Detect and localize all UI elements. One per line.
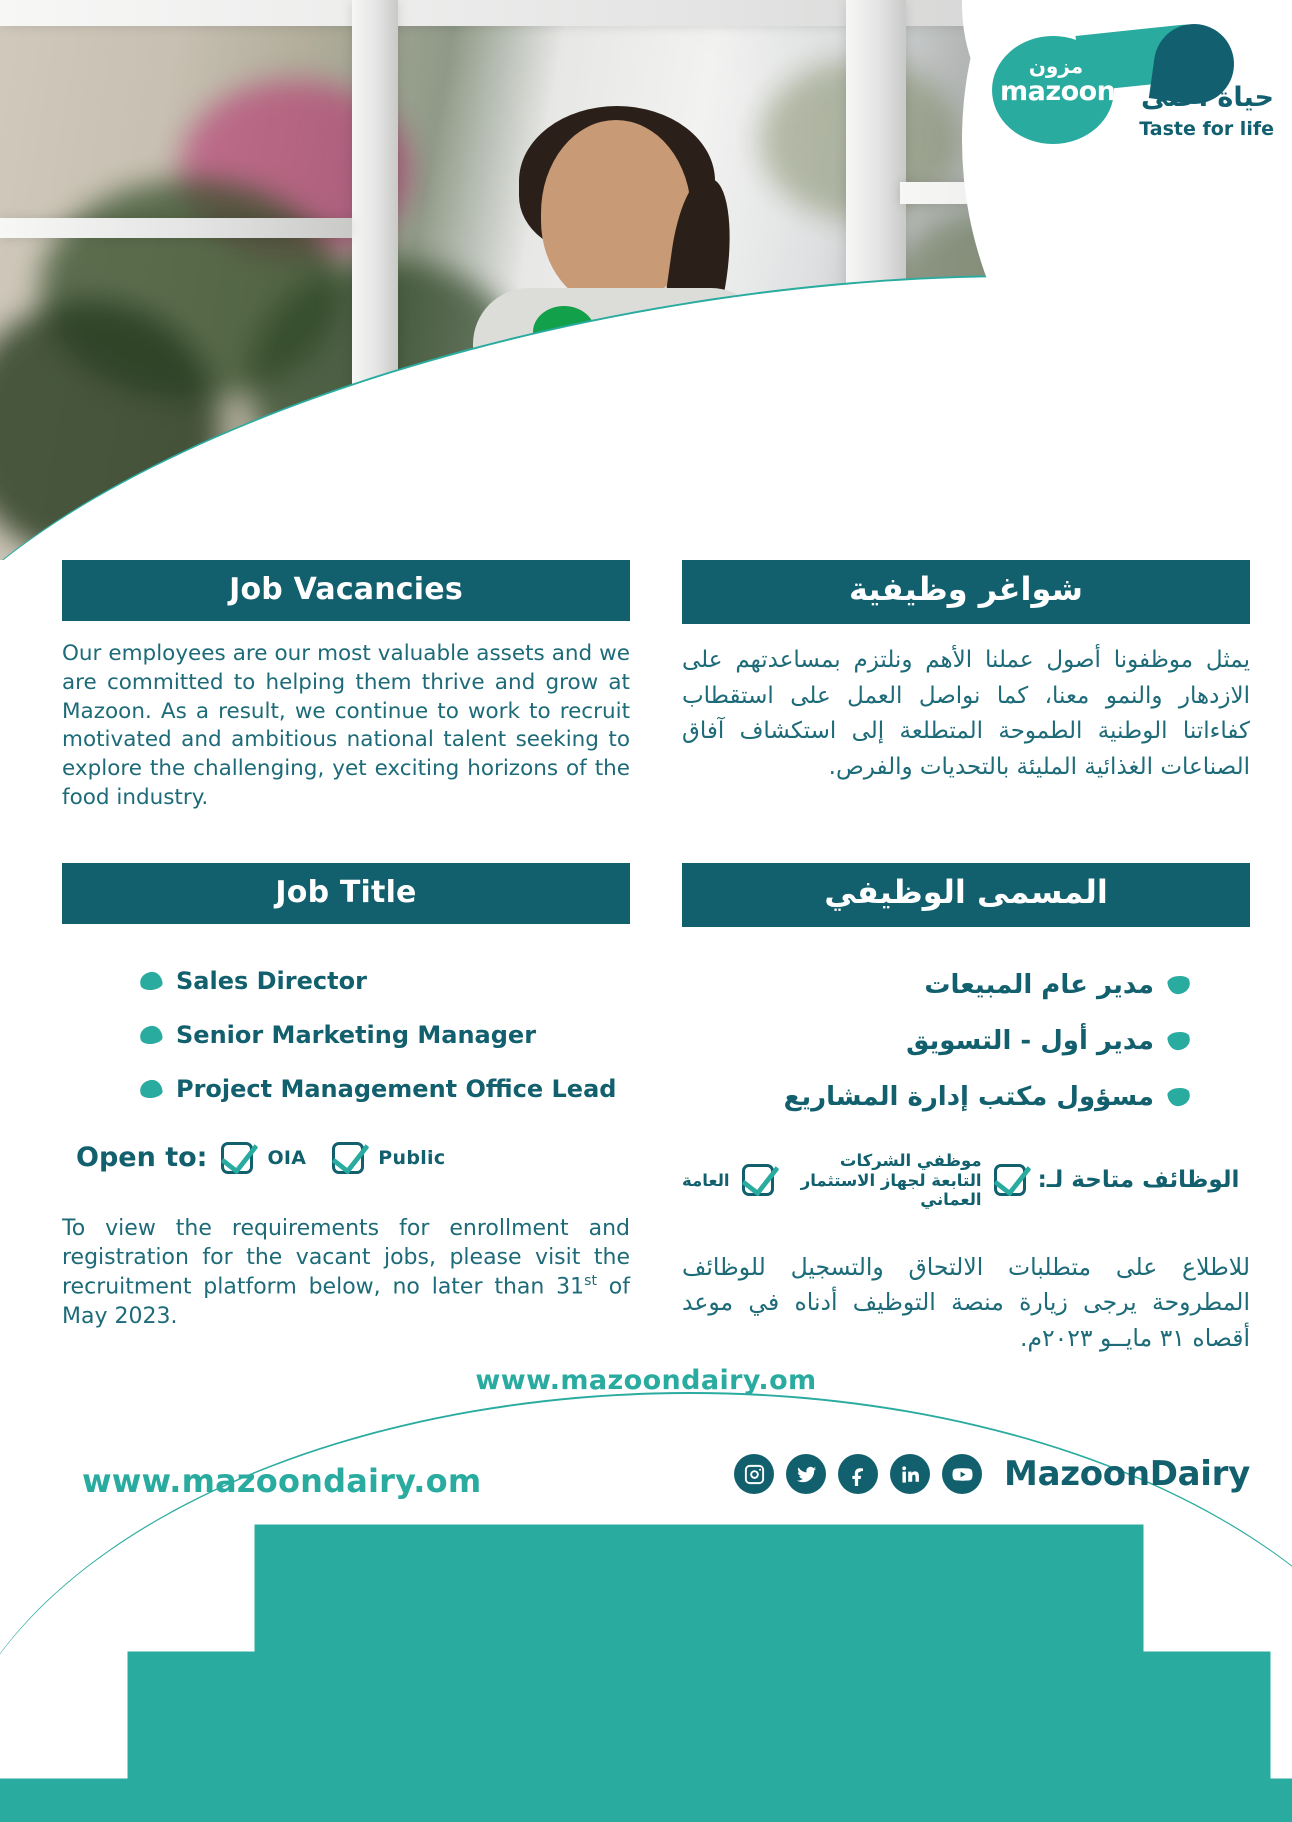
heading-job-vacancies-ar: شواغر وظيفية	[682, 560, 1250, 624]
leaf-bullet-icon	[1167, 1030, 1192, 1052]
logo-arabic-text: مزون	[1010, 54, 1102, 78]
open-to-label-en: Open to:	[76, 1142, 207, 1173]
list-item: مدير عام المبيعات	[682, 957, 1250, 1013]
logo-latin-text: mazoon	[1000, 76, 1112, 107]
heading-job-title-en: Job Title	[62, 863, 630, 924]
job-title-text: Project Management Office Lead	[176, 1075, 616, 1103]
checkbox-oia[interactable]	[221, 1142, 253, 1174]
job-title-text: مدير أول - التسويق	[906, 1026, 1154, 1056]
leaf-bullet-icon	[139, 1024, 164, 1046]
checkbox-label-public-ar: العامة	[682, 1171, 730, 1191]
heading-job-vacancies-en: Job Vacancies	[62, 560, 630, 621]
intro-paragraph-ar: يمثل موظفونا أصول عملنا الأهم ونلتزم بمس…	[682, 643, 1250, 786]
mazoon-logo: مزون mazoon حياة أحلى Taste for life	[986, 22, 1248, 150]
youtube-icon[interactable]	[942, 1454, 982, 1494]
list-item: Senior Marketing Manager	[62, 1008, 630, 1062]
job-list-en: Sales Director Senior Marketing Manager …	[62, 954, 630, 1116]
leaf-bullet-icon	[139, 1078, 164, 1100]
job-title-text: Sales Director	[176, 967, 367, 995]
footer: www.mazoondairy.om MazoonDairy	[0, 1420, 1292, 1536]
job-title-text: Senior Marketing Manager	[176, 1021, 536, 1049]
content-area: Job Vacancies Our employees are our most…	[0, 560, 1292, 1356]
leaf-bullet-icon	[1167, 1086, 1192, 1108]
instruction-text-ar: للاطلاع على متطلبات الالتحاق والتسجيل لل…	[682, 1250, 1250, 1356]
linkedin-icon[interactable]	[890, 1454, 930, 1494]
leaf-bullet-icon	[139, 970, 164, 992]
facebook-icon[interactable]	[838, 1454, 878, 1494]
leaf-bullet-icon	[1167, 974, 1192, 996]
heading-job-title-ar: المسمى الوظيفي	[682, 863, 1250, 927]
instruction-part1: To view the requirements for enrollment …	[62, 1216, 630, 1300]
instruction-text-en: To view the requirements for enrollment …	[62, 1214, 630, 1331]
checkbox-label-oia: OIA	[267, 1147, 306, 1169]
open-to-group-en: Open to: OIA Public	[62, 1142, 630, 1174]
checkbox-oia-subsidiaries[interactable]	[994, 1164, 1026, 1196]
job-title-text: مدير عام المبيعات	[924, 970, 1154, 1000]
instruction-day: 31	[556, 1275, 584, 1300]
list-item: مسؤول مكتب إدارة المشاريع	[682, 1069, 1250, 1125]
checkbox-label-public: Public	[378, 1147, 445, 1169]
job-title-text: مسؤول مكتب إدارة المشاريع	[784, 1082, 1154, 1112]
instagram-icon[interactable]	[734, 1454, 774, 1494]
twitter-icon[interactable]	[786, 1454, 826, 1494]
list-item: مدير أول - التسويق	[682, 1013, 1250, 1069]
website-link-middle[interactable]: www.mazoondairy.om	[0, 1365, 1292, 1396]
social-handle: MazoonDairy	[1004, 1454, 1250, 1494]
tagline-english: Taste for life	[1136, 118, 1274, 140]
job-list-ar: مدير عام المبيعات مدير أول - التسويق مسؤ…	[682, 957, 1250, 1125]
checkbox-public-ar[interactable]	[742, 1164, 774, 1196]
list-item: Project Management Office Lead	[62, 1062, 630, 1116]
checkbox-public[interactable]	[332, 1142, 364, 1174]
instruction-ordinal: st	[584, 1273, 597, 1289]
social-links: MazoonDairy	[734, 1454, 1250, 1494]
open-to-label-ar: الوظائف متاحة لـ:	[1038, 1167, 1240, 1193]
intro-paragraph-en: Our employees are our most valuable asse…	[62, 640, 630, 813]
logo-plate: مزون mazoon حياة أحلى Taste for life	[962, 0, 1292, 175]
list-item: Sales Director	[62, 954, 630, 1008]
tagline-arabic: حياة أحلى	[1138, 82, 1274, 113]
website-link-footer[interactable]: www.mazoondairy.om	[82, 1462, 481, 1500]
open-to-group-ar: الوظائف متاحة لـ: موظفي الشركات التابعة …	[682, 1151, 1250, 1210]
checkbox-label-oia-subsidiaries: موظفي الشركات التابعة لجهاز الاستثمار ال…	[792, 1151, 982, 1210]
